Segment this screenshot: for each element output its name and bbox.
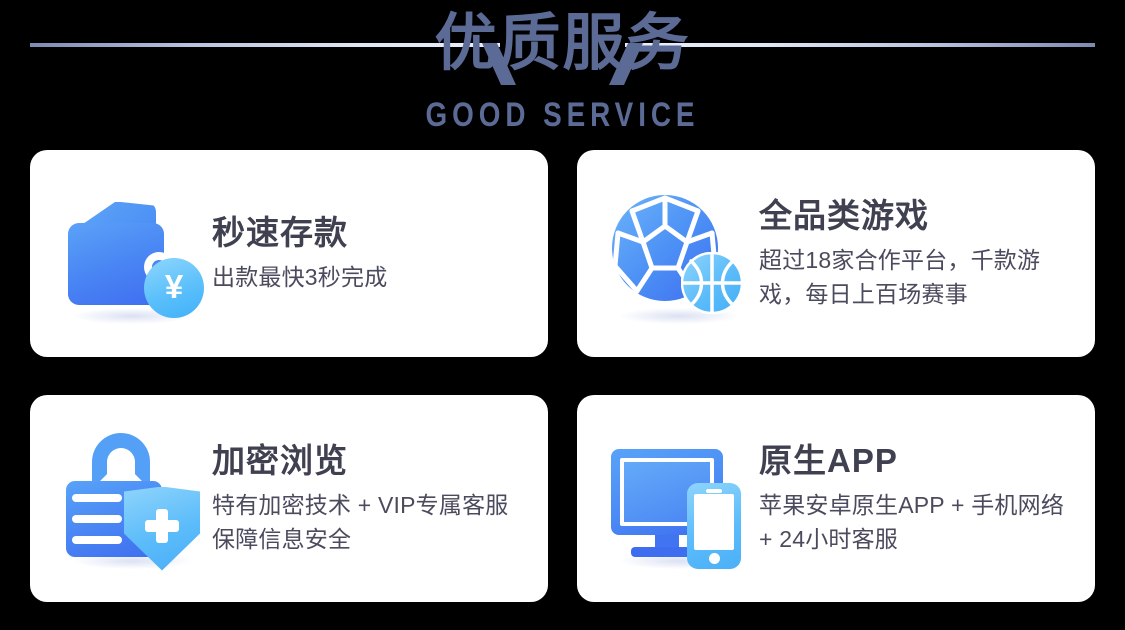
- yen-symbol: ¥: [165, 270, 183, 303]
- card-description: 苹果安卓原生APP + 手机网络 + 24小时客服: [759, 489, 1075, 556]
- card-text-block: 全品类游戏 超过18家合作平台，千款游戏，每日上百场赛事: [759, 196, 1075, 311]
- feature-card-games[interactable]: 全品类游戏 超过18家合作平台，千款游戏，每日上百场赛事: [577, 150, 1095, 357]
- card-text-block: 秒速存款 出款最快3秒完成: [212, 213, 528, 295]
- lock-slot: [72, 515, 122, 523]
- page-header: 优质服务 GOOD SERVICE: [0, 0, 1125, 145]
- wallet-yen-coin-icon: ¥: [58, 180, 206, 328]
- lock-slot: [72, 536, 122, 544]
- feature-card-deposit[interactable]: ¥ 秒速存款 出款最快3秒完成: [30, 150, 548, 357]
- lock-slot: [72, 494, 122, 502]
- card-description: 出款最快3秒完成: [212, 261, 528, 294]
- basketball-icon: [681, 252, 743, 314]
- card-title: 加密浏览: [212, 441, 528, 481]
- card-title: 原生APP: [759, 441, 1075, 481]
- page-title: 优质服务: [0, 8, 1125, 79]
- plus-icon: [145, 509, 179, 543]
- lock-shield-icon: [58, 425, 206, 573]
- card-title: 秒速存款: [212, 213, 528, 253]
- yen-coin-icon: ¥: [144, 258, 204, 318]
- card-text-block: 加密浏览 特有加密技术 + VIP专属客服保障信息安全: [212, 441, 528, 556]
- page-subtitle: GOOD SERVICE: [101, 96, 1024, 135]
- soccer-basketball-icon: [605, 180, 753, 328]
- feature-card-encryption[interactable]: 加密浏览 特有加密技术 + VIP专属客服保障信息安全: [30, 395, 548, 602]
- card-title: 全品类游戏: [759, 196, 1075, 236]
- card-text-block: 原生APP 苹果安卓原生APP + 手机网络 + 24小时客服: [759, 441, 1075, 556]
- card-description: 超过18家合作平台，千款游戏，每日上百场赛事: [759, 244, 1075, 311]
- feature-card-grid: ¥ 秒速存款 出款最快3秒完成: [30, 150, 1095, 602]
- feature-card-native-app[interactable]: 原生APP 苹果安卓原生APP + 手机网络 + 24小时客服: [577, 395, 1095, 602]
- phone-home-button: [709, 553, 720, 564]
- smartphone-icon: [687, 483, 741, 569]
- phone-speaker: [706, 489, 722, 493]
- monitor-phone-icon: [605, 425, 753, 573]
- phone-screen: [694, 494, 734, 550]
- card-description: 特有加密技术 + VIP专属客服保障信息安全: [212, 489, 528, 556]
